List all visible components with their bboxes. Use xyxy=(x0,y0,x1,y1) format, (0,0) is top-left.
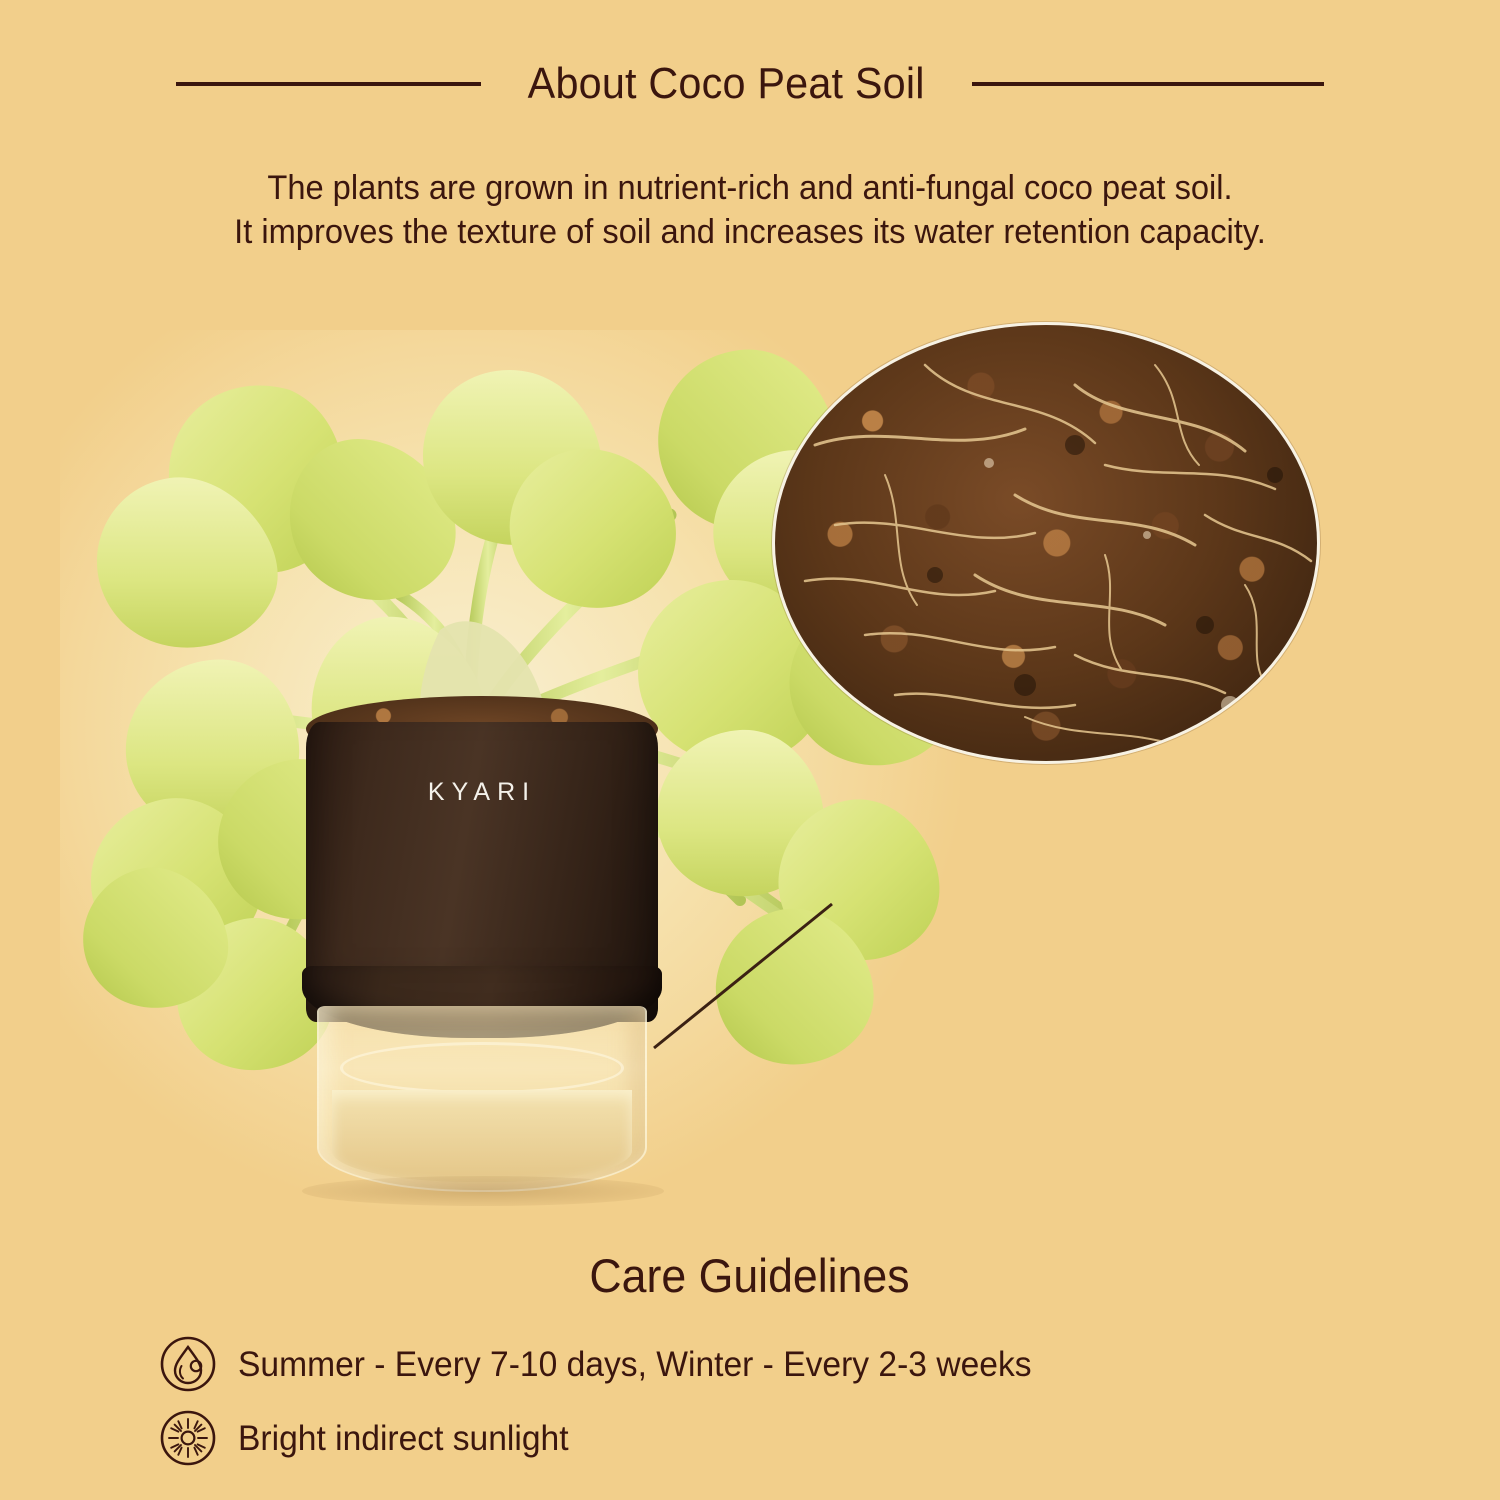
care-item-sunlight: Bright indirect sunlight xyxy=(160,1401,1420,1475)
care-item-sunlight-text: Bright indirect sunlight xyxy=(238,1421,569,1456)
header-rule-left xyxy=(176,82,481,86)
sun-icon xyxy=(160,1410,216,1466)
care-item-watering-text: Summer - Every 7-10 days, Winter - Every… xyxy=(238,1347,1032,1382)
intro-line-1: The plants are grown in nutrient-rich an… xyxy=(30,166,1470,210)
intro-line-2: It improves the texture of soil and incr… xyxy=(30,210,1470,254)
care-item-watering: Summer - Every 7-10 days, Winter - Every… xyxy=(160,1327,1420,1401)
page-title: About Coco Peat Soil xyxy=(528,62,925,106)
reservoir-rim xyxy=(340,1042,624,1094)
intro-paragraph: The plants are grown in nutrient-rich an… xyxy=(0,166,1500,254)
care-guidelines-list: Summer - Every 7-10 days, Winter - Every… xyxy=(160,1327,1420,1475)
reservoir-water xyxy=(332,1090,632,1182)
section-header: About Coco Peat Soil xyxy=(0,62,1500,106)
coco-peat-closeup-oval xyxy=(772,322,1320,764)
soil-fiber-overlay xyxy=(775,325,1320,764)
infographic-page: About Coco Peat Soil The plants are grow… xyxy=(0,0,1500,1500)
water-drop-icon xyxy=(160,1336,216,1392)
care-guidelines-title: Care Guidelines xyxy=(0,1252,1500,1299)
pot-ground-shadow xyxy=(302,1176,664,1206)
header-rule-right xyxy=(972,82,1324,86)
care-title-text: Care Guidelines xyxy=(590,1252,910,1299)
pot-brand-label: KYARI xyxy=(306,778,658,807)
